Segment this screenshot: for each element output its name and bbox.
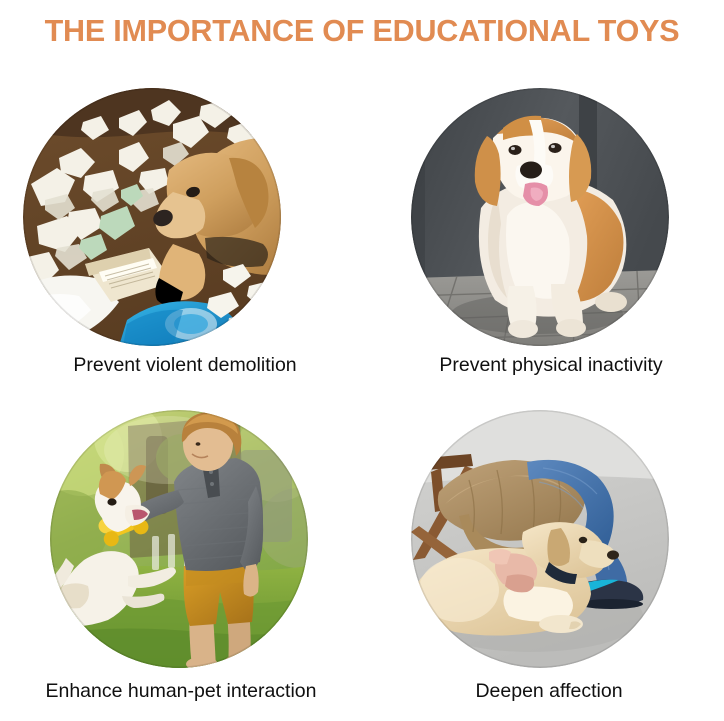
person-petting-labrador-illustration <box>411 410 669 668</box>
poster-root: THE IMPORTANCE OF EDUCATIONAL TOYS <box>0 0 724 721</box>
panel-enhance-human-pet-interaction: Enhance human-pet interaction <box>0 400 362 720</box>
dog-shredding-paper-illustration <box>23 88 281 346</box>
panel-image-circle-2 <box>411 88 669 346</box>
panel-caption-3: Enhance human-pet interaction <box>0 680 362 703</box>
panel-grid: Prevent violent demolition <box>0 78 724 718</box>
overweight-beagle-illustration <box>411 88 669 346</box>
panel-caption-4: Deepen affection <box>362 680 724 703</box>
panel-image-circle-4 <box>411 410 669 668</box>
panel-prevent-violent-demolition: Prevent violent demolition <box>0 78 362 398</box>
panel-prevent-physical-inactivity: Prevent physical inactivity <box>362 78 724 398</box>
panel-image-circle-1 <box>23 88 281 346</box>
panel-deepen-affection: Deepen affection <box>362 400 724 720</box>
panel-caption-1: Prevent violent demolition <box>0 354 366 377</box>
page-title: THE IMPORTANCE OF EDUCATIONAL TOYS <box>0 14 724 49</box>
panel-image-circle-3 <box>50 410 308 668</box>
boy-playing-with-dog-illustration <box>50 410 308 668</box>
panel-caption-2: Prevent physical inactivity <box>362 354 724 377</box>
